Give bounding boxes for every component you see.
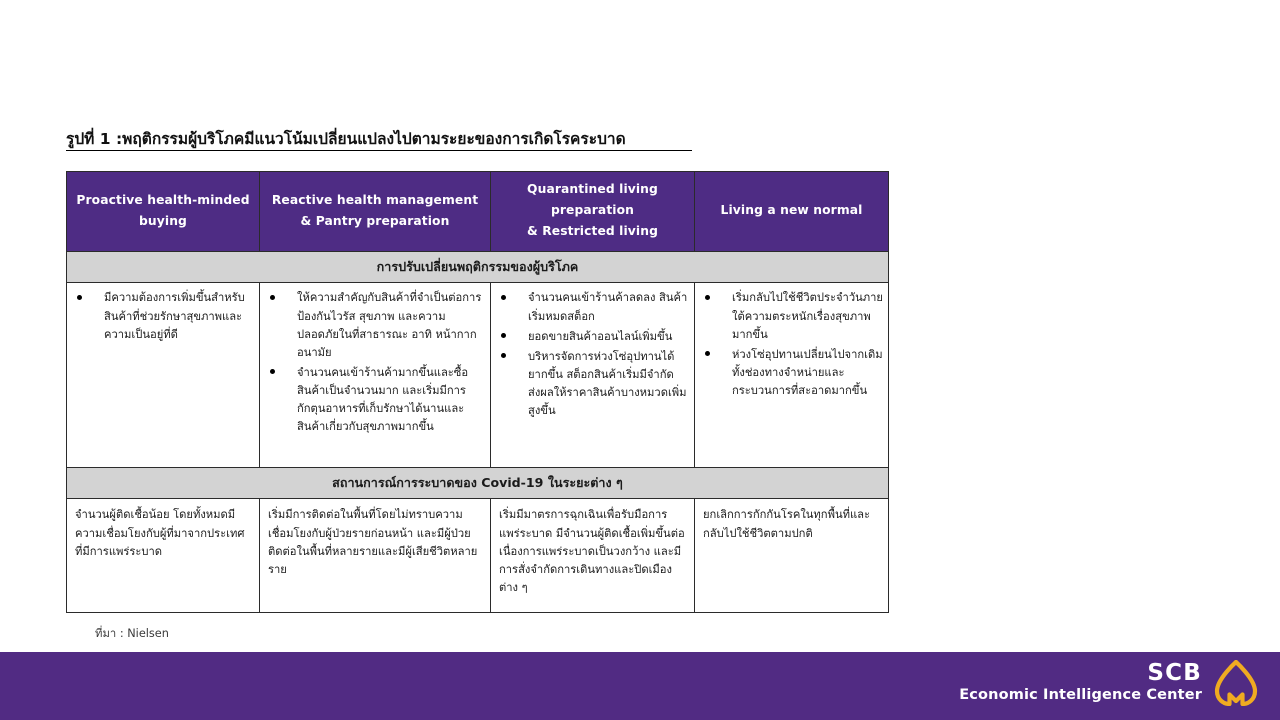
list-item: จำนวนคนเข้าร้านค้ามากขึ้นและซื้อสินค้าเป… <box>262 364 485 437</box>
list-item: เริ่มกลับไปใช้ชีวิตประจำวันภายใต้ความตระ… <box>697 289 883 343</box>
situation-text: เริ่มมีการติดต่อในพื้นที่โดยไม่ทราบความเ… <box>268 506 482 579</box>
situation-row: จำนวนผู้ติดเชื้อน้อย โดยทั้งหมดมีความเชื… <box>67 499 889 613</box>
behavior-cell-3: จำนวนคนเข้าร้านค้าลดลง สินค้าเริ่มหมดสต็… <box>491 283 695 468</box>
brand-name: SCB <box>959 661 1202 686</box>
situation-cell-1: จำนวนผู้ติดเชื้อน้อย โดยทั้งหมดมีความเชื… <box>67 499 260 613</box>
consumer-behavior-table: Proactive health-minded buying Reactive … <box>66 171 889 613</box>
bullet-dot-icon <box>705 295 710 300</box>
section-band-behavior: การปรับเปลี่ยนพฤติกรรมของผู้บริโภค <box>67 252 889 283</box>
bullet-dot-icon <box>501 333 506 338</box>
behavior-row: มีความต้องการเพิ่มขึ้นสำหรับสินค้าที่ช่ว… <box>67 283 889 468</box>
figure-title: รูปที่ 1 :พฤติกรรมผู้บริโภคมีแนวโน้มเปลี… <box>66 126 766 151</box>
bullet-list: มีความต้องการเพิ่มขึ้นสำหรับสินค้าที่ช่ว… <box>69 289 254 343</box>
situation-cell-4: ยกเลิกการกักกันโรคในทุกพื้นที่และกลับไปใ… <box>695 499 889 613</box>
header-line: Reactive health management <box>266 190 484 211</box>
source-note: ที่มา : Nielsen <box>95 624 169 642</box>
list-item: ห่วงโซ่อุปทานเปลี่ยนไปจากเดิมทั้งช่องทาง… <box>697 346 883 400</box>
slide-canvas: รูปที่ 1 :พฤติกรรมผู้บริโภคมีแนวโน้มเปลี… <box>0 0 1280 720</box>
table-header-cell-1: Proactive health-minded buying <box>67 172 260 252</box>
header-line: preparation <box>497 200 688 221</box>
behavior-cell-2: ให้ความสำคัญกับสินค้าที่จำเป็นต่อการป้อง… <box>260 283 491 468</box>
header-line: Quarantined living <box>497 179 688 200</box>
bullet-dot-icon <box>270 295 275 300</box>
behavior-cell-4: เริ่มกลับไปใช้ชีวิตประจำวันภายใต้ความตระ… <box>695 283 889 468</box>
bullet-dot-icon <box>501 353 506 358</box>
list-item: บริหารจัดการห่วงโซ่อุปทานได้ยากขึ้น สต็อ… <box>493 348 689 421</box>
title-underline <box>66 150 692 151</box>
situation-text: ยกเลิกการกักกันโรคในทุกพื้นที่และกลับไปใ… <box>703 506 880 542</box>
list-item-text: เริ่มกลับไปใช้ชีวิตประจำวันภายใต้ความตระ… <box>732 291 883 340</box>
situation-cell-3: เริ่มมีมาตรการฉุกเฉินเพื่อรับมือการแพร่ร… <box>491 499 695 613</box>
scb-leaf-logo-icon <box>1214 660 1258 706</box>
bullet-dot-icon <box>501 295 506 300</box>
list-item-text: ให้ความสำคัญกับสินค้าที่จำเป็นต่อการป้อง… <box>297 291 481 358</box>
section-band-situation: สถานการณ์การระบาดของ Covid-19 ในระยะต่าง… <box>67 468 889 499</box>
table-header-cell-4: Living a new normal <box>695 172 889 252</box>
header-line: & Pantry preparation <box>266 211 484 232</box>
bullet-list: ให้ความสำคัญกับสินค้าที่จำเป็นต่อการป้อง… <box>262 289 485 436</box>
situation-text: จำนวนผู้ติดเชื้อน้อย โดยทั้งหมดมีความเชื… <box>75 506 251 560</box>
list-item-text: ยอดขายสินค้าออนไลน์เพิ่มขึ้น <box>528 330 672 343</box>
table-header-cell-2: Reactive health management & Pantry prep… <box>260 172 491 252</box>
behavior-cell-1: มีความต้องการเพิ่มขึ้นสำหรับสินค้าที่ช่ว… <box>67 283 260 468</box>
bullet-list: เริ่มกลับไปใช้ชีวิตประจำวันภายใต้ความตระ… <box>697 289 883 400</box>
list-item: ให้ความสำคัญกับสินค้าที่จำเป็นต่อการป้อง… <box>262 289 485 362</box>
table-header-cell-3: Quarantined living preparation & Restric… <box>491 172 695 252</box>
header-line: & Restricted living <box>497 221 688 242</box>
list-item: จำนวนคนเข้าร้านค้าลดลง สินค้าเริ่มหมดสต็… <box>493 289 689 325</box>
situation-cell-2: เริ่มมีการติดต่อในพื้นที่โดยไม่ทราบความเ… <box>260 499 491 613</box>
list-item-text: มีความต้องการเพิ่มขึ้นสำหรับสินค้าที่ช่ว… <box>104 291 245 340</box>
brand-tagline: Economic Intelligence Center <box>959 687 1202 704</box>
bullet-dot-icon <box>77 295 82 300</box>
list-item-text: จำนวนคนเข้าร้านค้าลดลง สินค้าเริ่มหมดสต็… <box>528 291 687 322</box>
bullet-dot-icon <box>705 351 710 356</box>
header-line: Proactive health-minded <box>73 190 253 211</box>
logo-text-block: SCB Economic Intelligence Center <box>959 661 1202 704</box>
list-item-text: บริหารจัดการห่วงโซ่อุปทานได้ยากขึ้น สต็อ… <box>528 350 687 417</box>
bullet-list: จำนวนคนเข้าร้านค้าลดลง สินค้าเริ่มหมดสต็… <box>493 289 689 420</box>
list-item: มีความต้องการเพิ่มขึ้นสำหรับสินค้าที่ช่ว… <box>69 289 254 343</box>
list-item: ยอดขายสินค้าออนไลน์เพิ่มขึ้น <box>493 328 689 346</box>
bullet-dot-icon <box>270 369 275 374</box>
scb-eic-logo: SCB Economic Intelligence Center <box>959 660 1258 706</box>
table-header-row: Proactive health-minded buying Reactive … <box>67 172 889 252</box>
list-item-text: ห่วงโซ่อุปทานเปลี่ยนไปจากเดิมทั้งช่องทาง… <box>732 348 883 397</box>
section-band-label: การปรับเปลี่ยนพฤติกรรมของผู้บริโภค <box>67 252 889 283</box>
header-line: Living a new normal <box>701 200 882 221</box>
situation-text: เริ่มมีมาตรการฉุกเฉินเพื่อรับมือการแพร่ร… <box>499 506 686 597</box>
section-band-label: สถานการณ์การระบาดของ Covid-19 ในระยะต่าง… <box>67 468 889 499</box>
header-line: buying <box>73 211 253 232</box>
list-item-text: จำนวนคนเข้าร้านค้ามากขึ้นและซื้อสินค้าเป… <box>297 366 468 433</box>
